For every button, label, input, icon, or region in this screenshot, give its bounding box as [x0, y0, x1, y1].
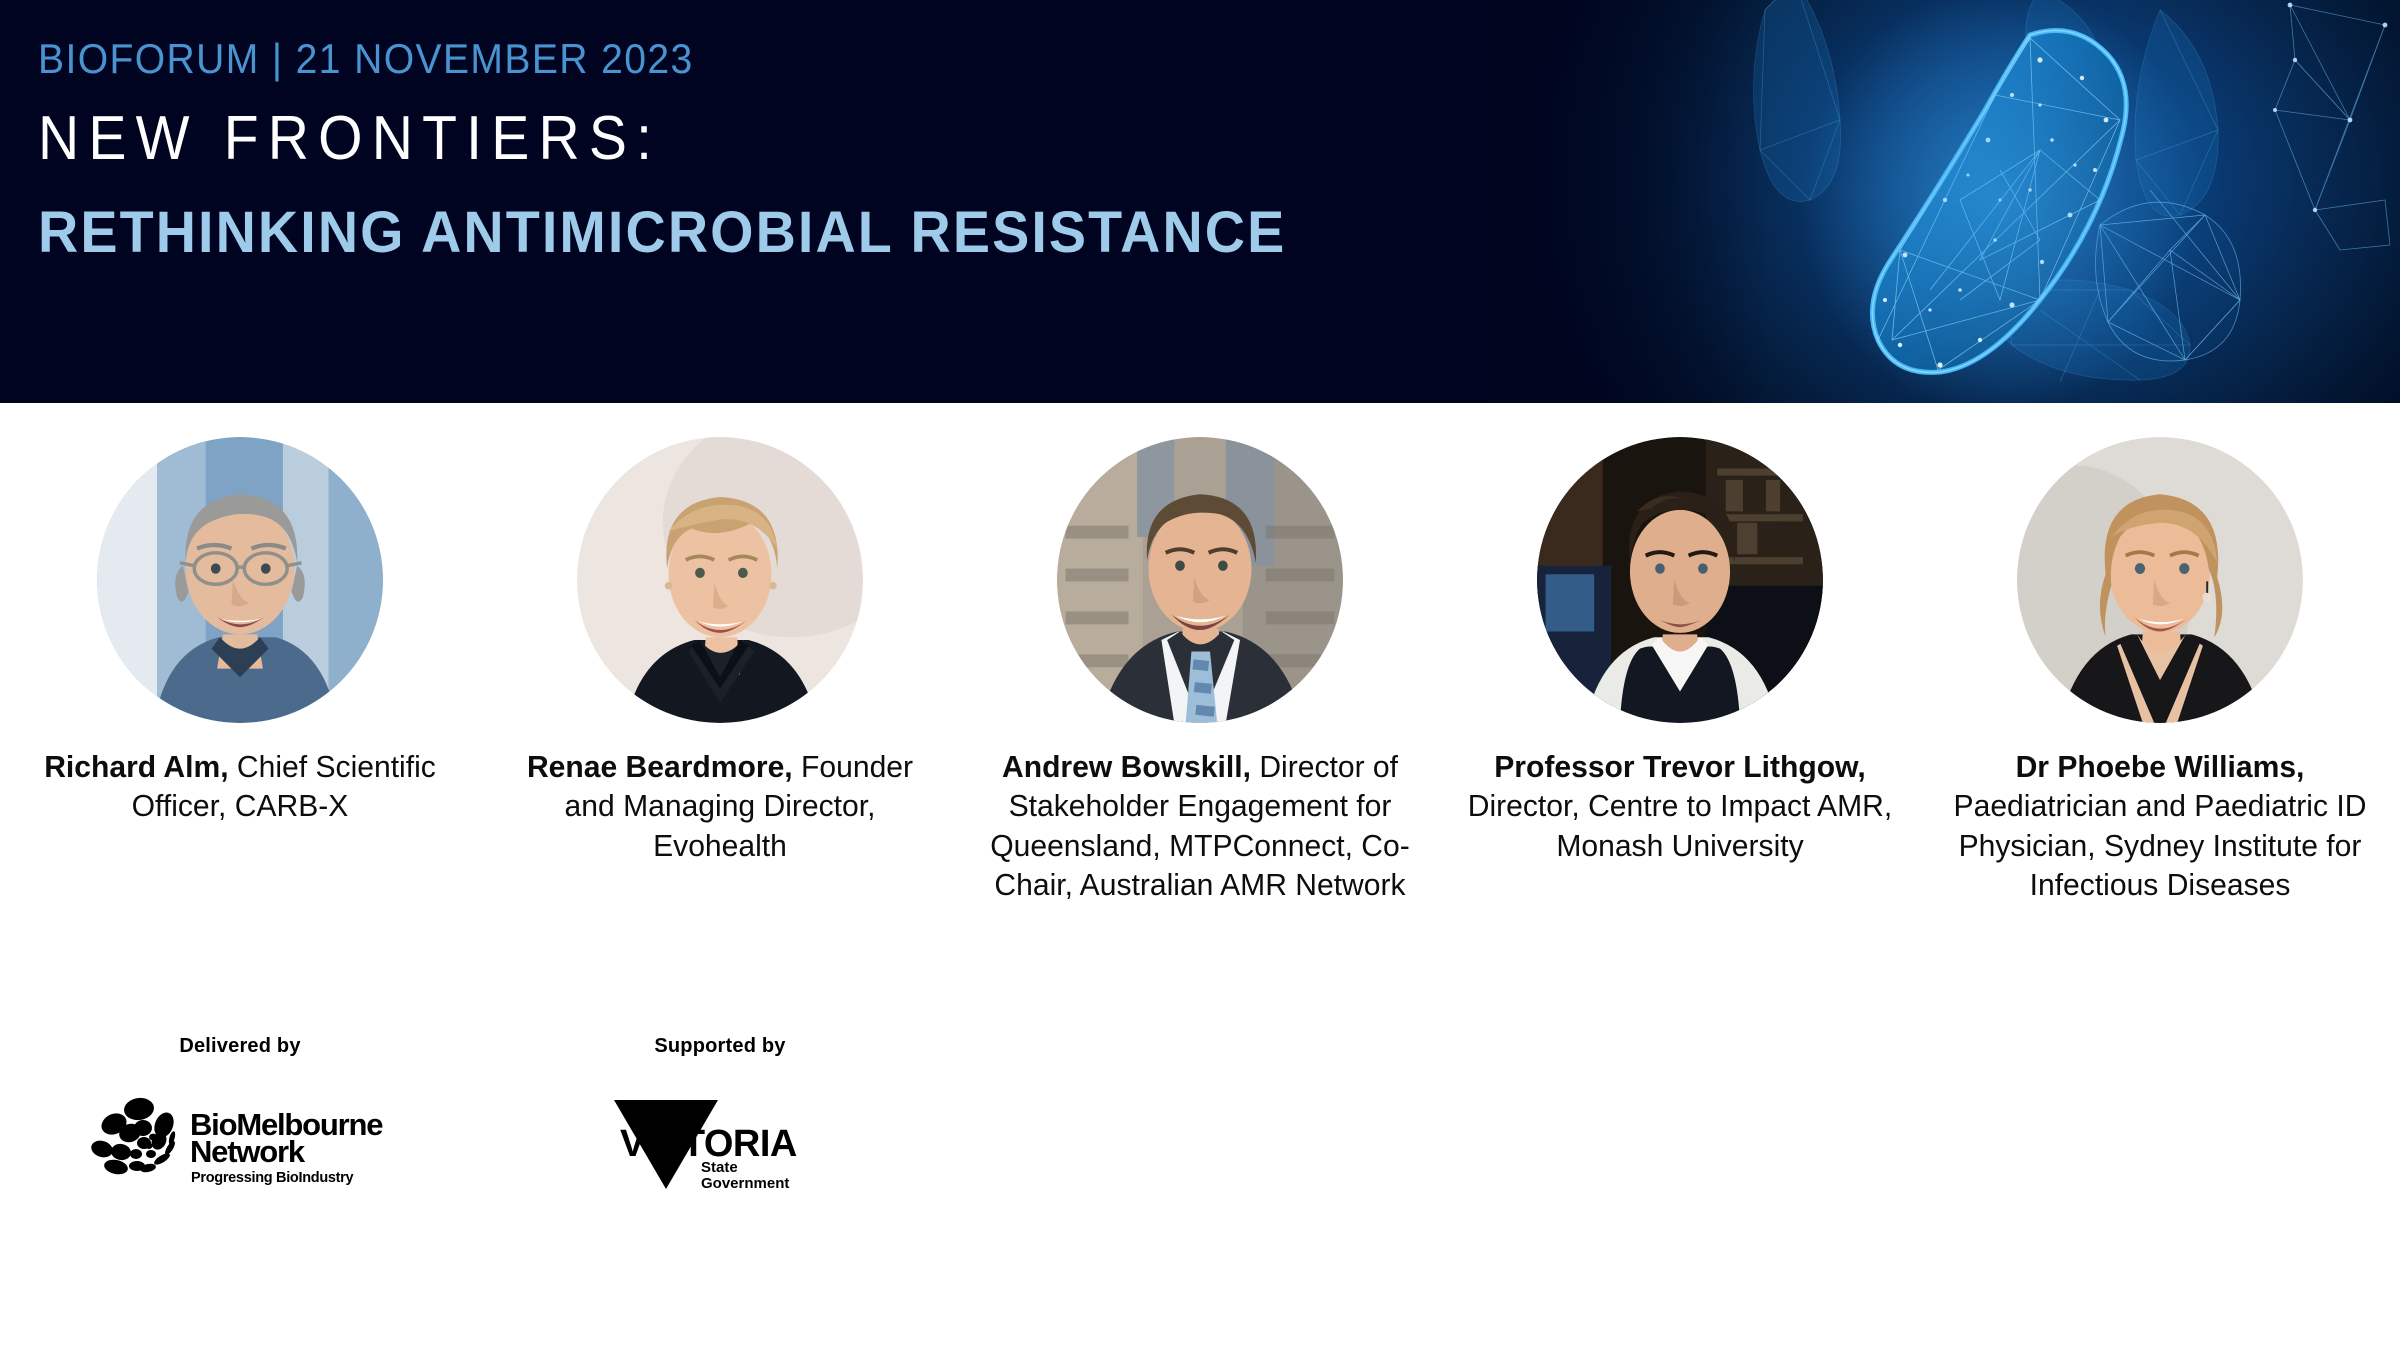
logo-line2: Network: [190, 1134, 306, 1169]
speaker-name: Professor Trevor Lithgow,: [1494, 749, 1865, 784]
biomelbourne-network-logo: BioMelbourne Network Progressing BioIndu…: [80, 1094, 400, 1190]
partner-supported-by: Supported by VICTORIA State Government: [480, 1035, 960, 1190]
speaker-name: Renae Beardmore,: [527, 749, 793, 784]
avatar-richard-alm: [97, 437, 383, 723]
banner-art-fade: [1340, 0, 1770, 403]
speaker-card-trevor-lithgow: Professor Trevor Lithgow, Director, Cent…: [1440, 403, 1920, 865]
speaker-info: Andrew Bowskill, Director of Stakeholder…: [981, 747, 1419, 904]
event-title: NEW FRONTIERS:: [38, 108, 1234, 170]
logo-line3: Government: [701, 1175, 789, 1190]
partner-spacer-5: [1920, 1035, 2400, 1190]
bacteria-artwork: [1340, 0, 2400, 403]
speaker-info: Renae Beardmore, Founder and Managing Di…: [501, 747, 939, 865]
speaker-role: Paediatrician and Paediatric ID Physicia…: [1954, 788, 2367, 902]
speaker-card-phoebe-williams: Dr Phoebe Williams, Paediatrician and Pa…: [1920, 403, 2400, 904]
event-subtitle: RETHINKING ANTIMICROBIAL RESISTANCE: [38, 204, 1286, 262]
speaker-card-andrew-bowskill: Andrew Bowskill, Director of Stakeholder…: [960, 403, 1440, 904]
speaker-info: Professor Trevor Lithgow, Director, Cent…: [1461, 747, 1899, 865]
avatar-phoebe-williams: [2017, 437, 2303, 723]
delivered-by-label: Delivered by: [179, 1035, 300, 1058]
speaker-name: Dr Phoebe Williams,: [2016, 749, 2305, 784]
partner-delivered-by: Delivered by: [0, 1035, 480, 1190]
partner-spacer-4: [1440, 1035, 1920, 1190]
speaker-role: Director, Centre to Impact AMR, Monash U…: [1468, 788, 1892, 862]
speaker-list: Richard Alm, Chief Scientific Officer, C…: [0, 403, 2400, 904]
speaker-card-renae-beardmore: Renae Beardmore, Founder and Managing Di…: [480, 403, 960, 865]
event-kicker: BIOFORUM | 21 NOVEMBER 2023: [38, 38, 1247, 80]
speaker-info: Dr Phoebe Williams, Paediatrician and Pa…: [1941, 747, 2379, 904]
speaker-name: Richard Alm,: [44, 749, 228, 784]
avatar-andrew-bowskill: [1057, 437, 1343, 723]
event-banner: BIOFORUM | 21 NOVEMBER 2023 NEW FRONTIER…: [0, 0, 2400, 403]
avatar-renae-beardmore: [577, 437, 863, 723]
banner-text-block: BIOFORUM | 21 NOVEMBER 2023 NEW FRONTIER…: [38, 38, 1338, 262]
logo-line2: State: [701, 1159, 738, 1176]
speaker-card-richard-alm: Richard Alm, Chief Scientific Officer, C…: [0, 403, 480, 826]
partner-logos: Delivered by: [0, 1035, 2400, 1190]
logo-tagline: Progressing BioIndustry: [191, 1170, 354, 1186]
partner-spacer-3: [960, 1035, 1440, 1190]
victoria-state-government-logo: VICTORIA State Government: [606, 1094, 834, 1190]
avatar-trevor-lithgow: [1537, 437, 1823, 723]
speaker-name: Andrew Bowskill,: [1002, 749, 1251, 784]
speaker-info: Richard Alm, Chief Scientific Officer, C…: [21, 747, 459, 826]
supported-by-label: Supported by: [654, 1035, 785, 1058]
